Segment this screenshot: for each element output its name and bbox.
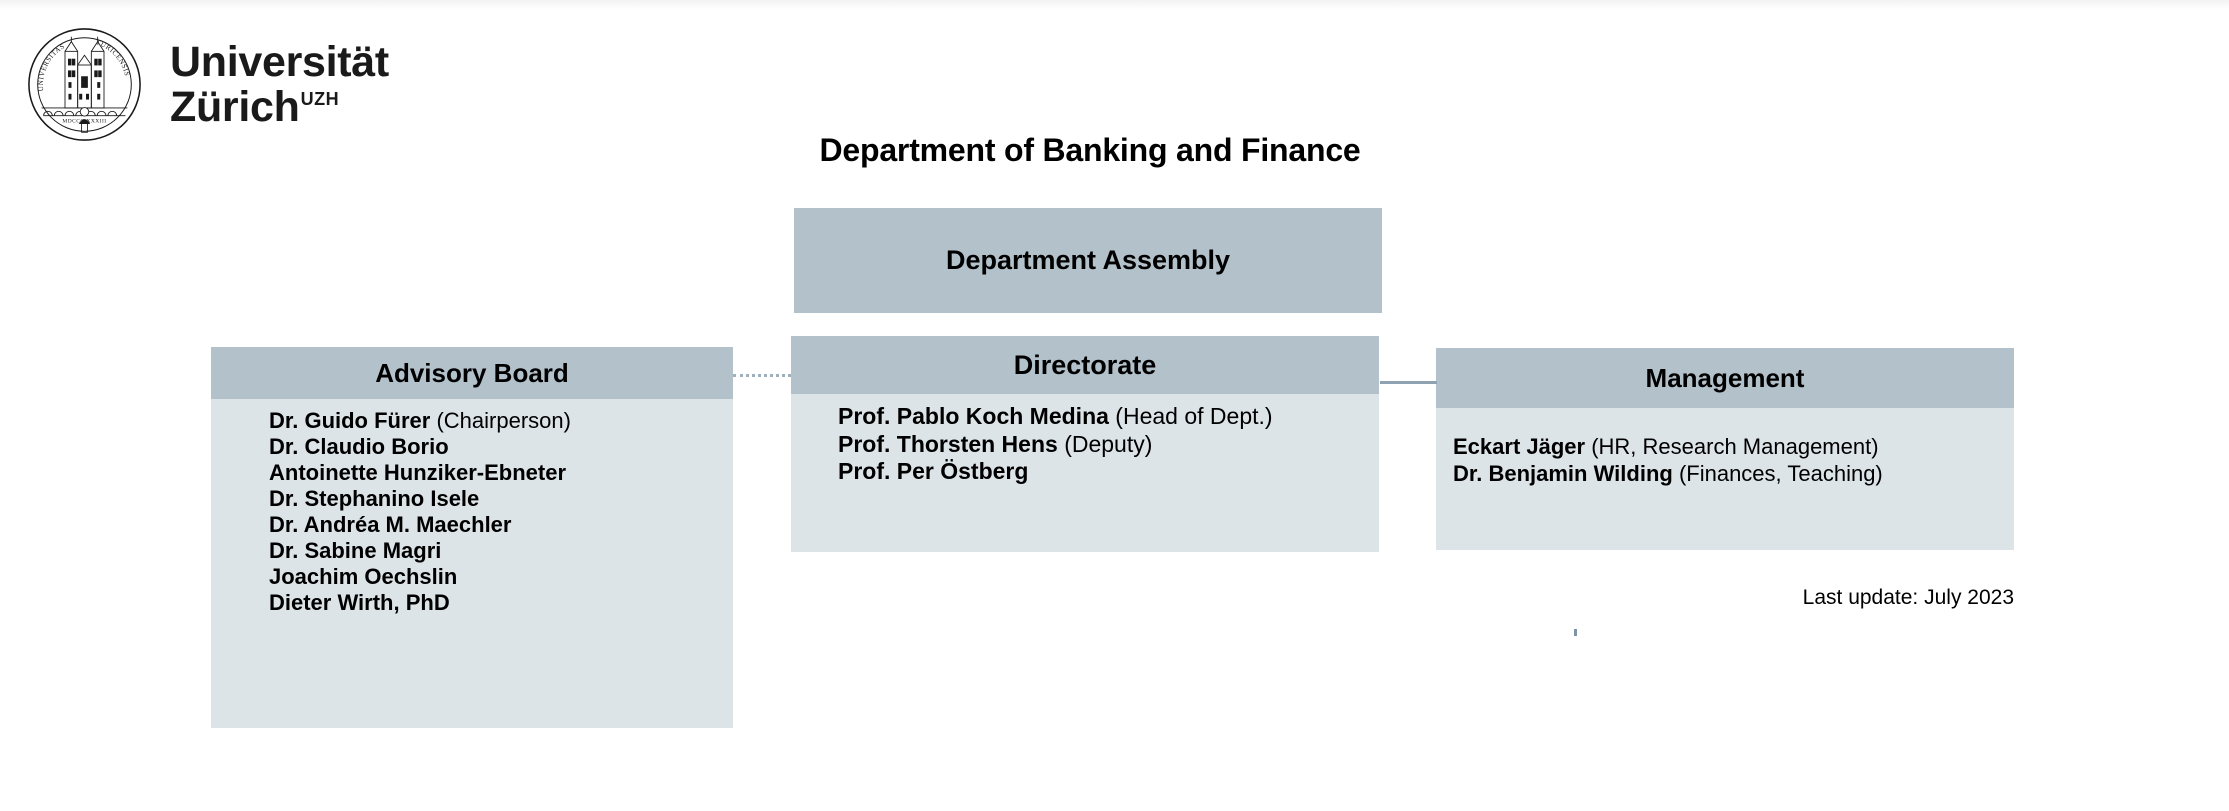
- box-management: Management Eckart Jäger (HR, Research Ma…: [1436, 348, 2014, 550]
- member-name: Prof. Pablo Koch Medina: [838, 403, 1109, 429]
- member-role: (Head of Dept.): [1109, 403, 1273, 429]
- stray-mark: [1574, 629, 1577, 636]
- member-role: (HR, Research Management): [1585, 434, 1878, 459]
- uzh-wordmark: Universität ZürichUZH: [170, 40, 389, 129]
- connector-advisory-to-directorate: [733, 374, 791, 377]
- org-chart-page: UNIVERSITAS TURICENSIS MDCCC XXXIII Univ…: [0, 0, 2229, 811]
- member-name: Prof. Per Östberg: [838, 458, 1028, 484]
- uzh-wordmark-line1: Universität: [170, 40, 389, 85]
- list-item: Dr. Stephanino Isele: [211, 486, 733, 512]
- box-department-assembly-title: Department Assembly: [794, 208, 1382, 313]
- uzh-seal-icon: UNIVERSITAS TURICENSIS MDCCC XXXIII: [26, 26, 143, 143]
- uzh-wordmark-zurich: Zürich: [170, 83, 300, 131]
- list-item: Dr. Sabine Magri: [211, 538, 733, 564]
- list-item: Dr. Benjamin Wilding (Finances, Teaching…: [1436, 461, 2014, 488]
- list-item: Antoinette Hunziker-Ebneter: [211, 460, 733, 486]
- member-name: Dr. Claudio Borio: [269, 434, 449, 459]
- list-item: Prof. Per Östberg: [791, 458, 1379, 486]
- box-directorate-body: Prof. Pablo Koch Medina (Head of Dept.) …: [791, 394, 1379, 496]
- box-management-title: Management: [1436, 348, 2014, 408]
- list-item: Prof. Thorsten Hens (Deputy): [791, 431, 1379, 459]
- list-item: Dr. Andréa M. Maechler: [211, 512, 733, 538]
- member-name: Prof. Thorsten Hens: [838, 431, 1058, 457]
- last-update-label: Last update: July 2023: [1420, 586, 2014, 610]
- member-name: Joachim Oechslin: [269, 564, 457, 589]
- svg-text:MDCCC XXXIII: MDCCC XXXIII: [62, 119, 106, 125]
- list-item: Dr. Guido Fürer (Chairperson): [211, 408, 733, 434]
- box-directorate: Directorate Prof. Pablo Koch Medina (Hea…: [791, 336, 1379, 552]
- box-advisory-board: Advisory Board Dr. Guido Fürer (Chairper…: [211, 347, 733, 728]
- list-item: Eckart Jäger (HR, Research Management): [1436, 434, 2014, 461]
- member-name: Dr. Andréa M. Maechler: [269, 512, 511, 537]
- member-name: Dr. Guido Fürer: [269, 408, 430, 433]
- member-name: Antoinette Hunziker-Ebneter: [269, 460, 566, 485]
- box-management-body: Eckart Jäger (HR, Research Management) D…: [1436, 408, 2014, 498]
- box-department-assembly: Department Assembly: [794, 208, 1382, 313]
- list-item: Joachim Oechslin: [211, 564, 733, 590]
- connector-directorate-to-management: [1380, 381, 1437, 384]
- member-role: (Deputy): [1058, 431, 1153, 457]
- member-name: Eckart Jäger: [1453, 434, 1585, 459]
- uzh-wordmark-line2: ZürichUZH: [170, 85, 339, 130]
- list-item: Dieter Wirth, PhD: [211, 590, 733, 616]
- uzh-wordmark-superscript: UZH: [301, 89, 340, 109]
- list-item: Dr. Claudio Borio: [211, 434, 733, 460]
- member-name: Dr. Benjamin Wilding: [1453, 461, 1673, 486]
- box-directorate-title: Directorate: [791, 336, 1379, 394]
- member-name: Dr. Sabine Magri: [269, 538, 441, 563]
- member-name: Dieter Wirth, PhD: [269, 590, 450, 615]
- box-advisory-board-title: Advisory Board: [211, 347, 733, 399]
- member-name: Dr. Stephanino Isele: [269, 486, 479, 511]
- uzh-logo: UNIVERSITAS TURICENSIS MDCCC XXXIII Univ…: [26, 26, 389, 143]
- member-role: (Finances, Teaching): [1673, 461, 1883, 486]
- list-item: Prof. Pablo Koch Medina (Head of Dept.): [791, 403, 1379, 431]
- member-role: (Chairperson): [430, 408, 571, 433]
- page-title: Department of Banking and Finance: [0, 132, 2180, 169]
- top-edge-band: [0, 0, 2229, 10]
- box-advisory-board-body: Dr. Guido Fürer (Chairperson) Dr. Claudi…: [211, 399, 733, 627]
